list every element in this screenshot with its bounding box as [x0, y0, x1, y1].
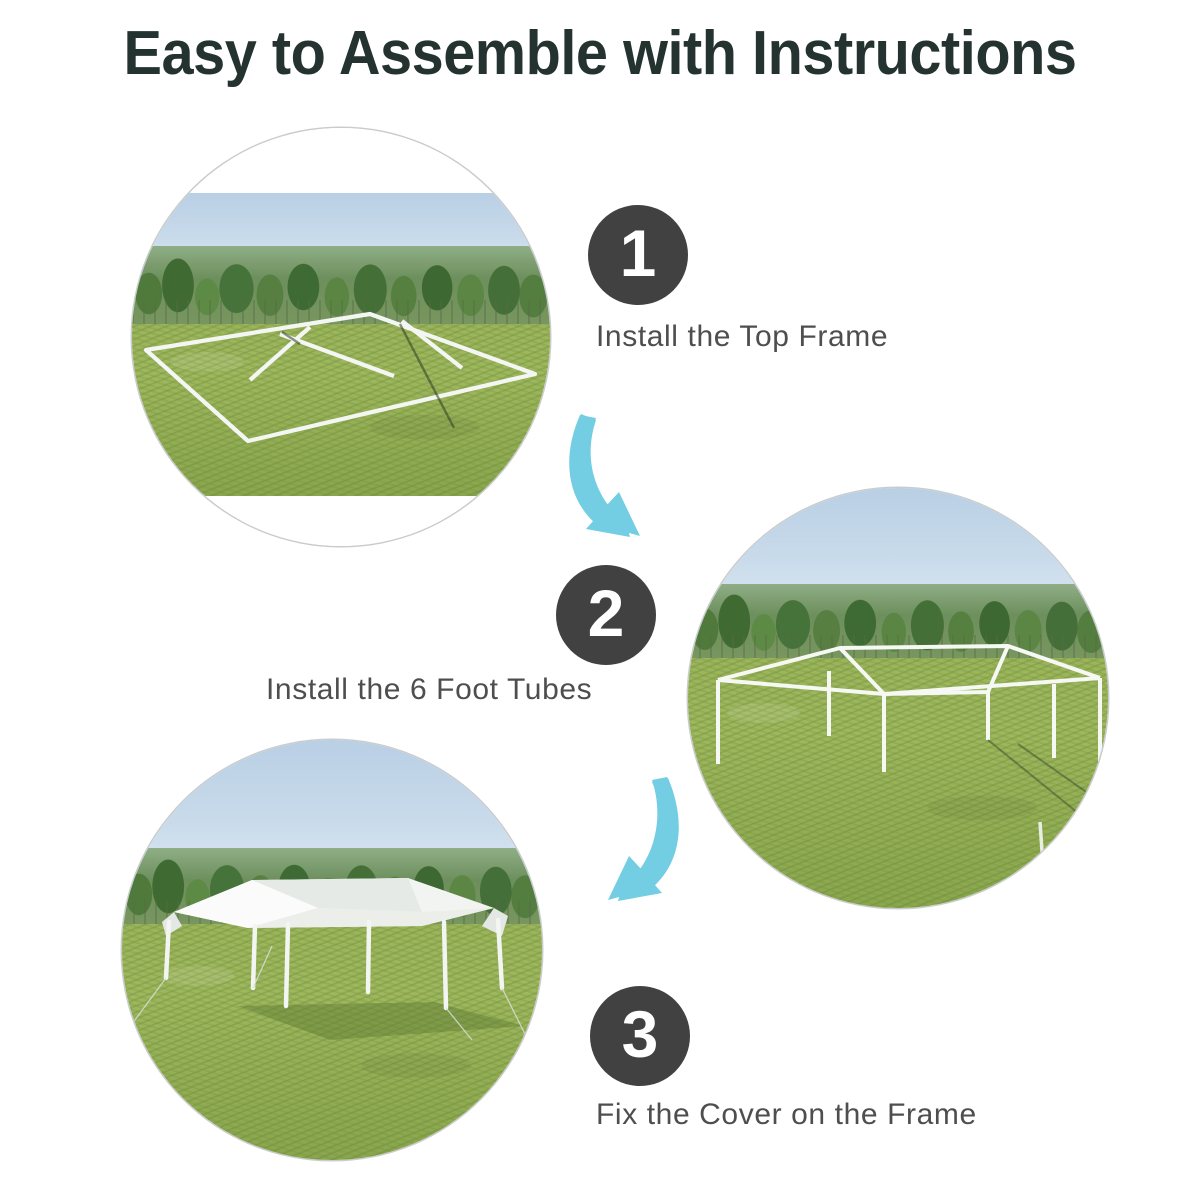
step-2-caption: Install the 6 Foot Tubes [266, 673, 592, 707]
step-2-badge: 2 [556, 565, 656, 665]
arrow-step2-to-step3 [562, 768, 692, 913]
instructions-infographic: Easy to Assemble with Instructions [0, 0, 1200, 1200]
photo-1-bottom-letterbox [132, 496, 550, 546]
photo-frame-with-legs [688, 488, 1108, 908]
photo-1-top-letterbox [132, 128, 550, 193]
step-1-badge: 1 [588, 205, 688, 305]
step-1-caption: Install the Top Frame [596, 320, 888, 354]
canopy-tent-graphic [122, 740, 542, 1160]
tent-frame-with-legs-graphic [688, 488, 1108, 908]
photo-1-scene [132, 128, 550, 546]
photo-3-scene [122, 740, 542, 1160]
arrow-step1-to-step2 [556, 406, 676, 546]
photo-finished-canopy [122, 740, 542, 1160]
step-3-caption: Fix the Cover on the Frame [596, 1098, 977, 1132]
photo-top-frame-on-grass [132, 128, 550, 546]
step-3-badge: 3 [590, 986, 690, 1086]
photo-2-scene [688, 488, 1108, 908]
page-title: Easy to Assemble with Instructions [42, 18, 1158, 89]
